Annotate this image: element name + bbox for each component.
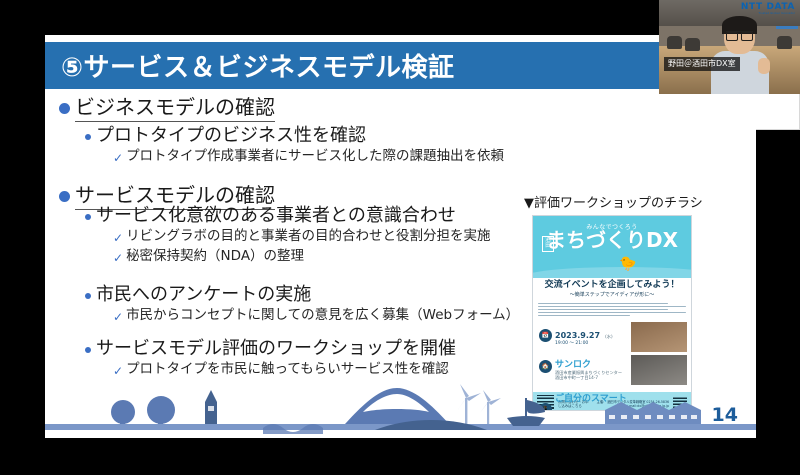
flyer-band: 交流イベントを企画してみよう！ ～簡単ステップでアイディアが形に～ [533,278,691,300]
check-icon: ✓ [113,232,123,244]
check-item-2-2-1: ✓ 市民からコンセプトに関しての意見を広く募集（Webフォーム） [113,307,519,325]
sub-item-text: プロトタイプのビジネス性を確認 [96,125,366,148]
sub-item-1-1: プロトタイプのビジネス性を確認 [85,125,504,148]
check-item-2-1-1: ✓ リビングラボの目的と事業者の目的合わせと役割分担を実施 [113,228,491,246]
flyer-caption: ▼評価ワークショップのチラシ [524,192,703,211]
bullet-dot-icon [85,214,91,220]
footer-skyline-illustration [45,380,756,438]
sub-item-text: 市民へのアンケートの実施 [96,284,311,307]
sub-item-2-3: サービスモデル評価のワークショップを開催 [85,338,456,361]
flyer-band-title: 交流イベントを企画してみよう！ [533,281,691,291]
flyer-body-text-lines [538,303,686,317]
check-item-text: プロトタイプを市民に触ってもらいサービス性を確認 [126,361,449,379]
flyer-header-title: まちづくりDX [533,230,691,250]
page-number: 14 [712,404,738,426]
nttdata-logo: NTT DATA Trusted Global Innovator [741,3,795,15]
flyer-description [533,300,691,317]
sub-item-2-2: 市民へのアンケートの実施 [85,284,519,307]
participant-figure [711,18,769,94]
chair-icon [685,38,700,51]
sub-item-2-1: サービス化意欲のある事業者との意識合わせ [85,205,491,228]
check-item-text: リビングラボの目的と事業者の目的合わせと役割分担を実施 [126,228,491,246]
check-item-text: 市民からコンセプトに関しての意見を広く募集（Webフォーム） [126,307,519,325]
check-item-1-1-1: ✓ プロトタイプ作成事業者にサービス化した際の課題抽出を依頼 [113,148,504,166]
screen-root: 👥 三者間リビングラボの立ち上げ DX 酒田市 リビングラボ ⑤サービス＆ビジネ… [0,0,800,475]
flyer-date-row: 📅 2023.9.27 (水) 19:00 ～ 21:00 [539,323,627,347]
check-icon: ✓ [113,152,123,164]
presentation-slide: ⑤サービス＆ビジネスモデル検証 ビジネスモデルの確認 プロトタイプのビジネス性を… [45,35,756,438]
slide-title: ⑤サービス＆ビジネスモデル検証 [45,47,455,84]
flyer-header: みんなでつくろう 酒田 まちづくりDX 🐤 [533,216,691,278]
flyer-time: 19:00 ～ 21:00 [555,342,613,347]
nttdata-logo-text: NTT DATA [741,3,795,12]
sub-item-text: サービスモデル評価のワークショップを開催 [96,338,456,361]
nttdata-logo-tagline: Trusted Global Innovator [741,12,795,15]
check-icon: ✓ [113,252,123,264]
calendar-icon: 📅 [539,329,552,342]
sub-item-text: サービス化意欲のある事業者との意識合わせ [96,205,456,228]
participant-hand [758,58,770,74]
section-heading-1: ビジネスモデルの確認 [59,95,275,122]
location-icon: 🏠 [539,360,552,373]
bullet-dot-icon [85,347,91,353]
bullet-dot-icon [59,103,70,114]
chair-icon [777,36,792,49]
check-item-text: プロトタイプ作成事業者にサービス化した際の課題抽出を依頼 [126,148,504,166]
flyer-date: 2023.9.27 [555,331,600,340]
check-icon: ✓ [113,365,123,377]
section-heading-text: ビジネスモデルの確認 [75,95,275,122]
check-item-2-1-2: ✓ 秘密保持契約（NDA）の整理 [113,248,491,266]
flyer-venue: サンロク [555,360,591,370]
flyer-date-day: (水) [605,334,612,339]
bullet-dot-icon [59,191,70,202]
check-item-2-3-1: ✓ プロトタイプを市民に触ってもらいサービス性を確認 [113,361,456,379]
flyer-band-sub: ～簡単ステップでアイディアが形に～ [533,292,691,298]
bullet-dot-icon [85,293,91,299]
participant-name-label: 野田＠酒田市DX室 [664,57,740,71]
check-icon: ✓ [113,311,123,323]
chair-icon [667,36,682,49]
bullet-dot-icon [85,134,91,140]
check-item-text: 秘密保持契約（NDA）の整理 [126,248,304,266]
flyer-venue-row: 🏠 サンロク 酒田市産業振興まちづくりセンター 酒田市中町一丁目14-7 [539,352,627,380]
glasses-icon [726,31,753,39]
flyer-photo-1 [630,321,688,353]
wall-accent-light [776,26,798,29]
slide-title-bar: ⑤サービス＆ビジネスモデル検証 [45,42,756,89]
wave-decoration [533,267,691,278]
webcam-video-tile[interactable]: NTT DATA Trusted Global Innovator [659,0,800,94]
